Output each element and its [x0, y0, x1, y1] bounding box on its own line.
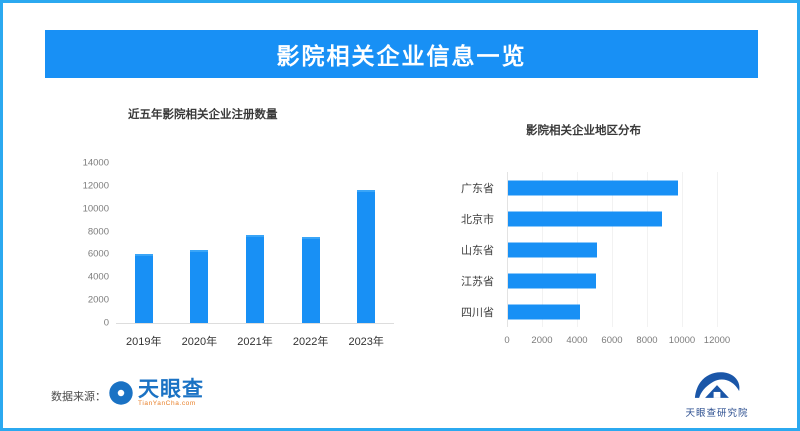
region-distribution-bar-chart: 广东省北京市山东省江苏省四川省 020004000600080001000012… [443, 168, 763, 353]
x-tick-label: 2019年 [126, 333, 161, 349]
bar [135, 254, 153, 323]
y-tick-label: 12000 [83, 180, 109, 191]
x-tick-label: 6000 [601, 335, 622, 346]
hbar-row: 四川省 [507, 296, 717, 327]
header-banner: 影院相关企业信息一览 [45, 30, 758, 78]
brand-name: 天眼查 [138, 379, 204, 400]
hbar-row: 北京市 [507, 203, 717, 234]
category-label: 山东省 [461, 242, 494, 258]
bar [508, 304, 580, 319]
institute-arch-icon [691, 369, 743, 403]
y-gridline: 8000 [116, 232, 394, 233]
left-chart-title: 近五年影院相关企业注册数量 [128, 106, 278, 122]
page-title: 影院相关企业信息一览 [277, 37, 527, 71]
bar [508, 242, 597, 257]
institute-name: 天眼查研究院 [675, 405, 759, 419]
brand-domain: TianYanCha.com [138, 401, 204, 408]
x-tick-label: 2023年 [348, 333, 383, 349]
bar [508, 273, 596, 288]
bar [246, 235, 264, 323]
registrations-bar-chart: 02000400060008000100001200014000 2019年20… [58, 153, 403, 348]
x-tick-label: 2022年 [293, 333, 328, 349]
bar [357, 190, 375, 323]
bar [302, 237, 320, 323]
hbar-row: 江苏省 [507, 265, 717, 296]
category-label: 北京市 [461, 211, 494, 227]
institute-logo: 天眼查研究院 [675, 369, 759, 419]
category-label: 江苏省 [461, 273, 494, 289]
tianyancha-logo: 天眼查 TianYanCha.com [108, 379, 204, 408]
right-chart-title: 影院相关企业地区分布 [526, 122, 641, 138]
category-label: 广东省 [461, 180, 494, 196]
y-gridline: 10000 [116, 209, 394, 210]
bar [190, 250, 208, 323]
y-tick-label: 2000 [88, 295, 109, 306]
right-plot-area: 广东省北京市山东省江苏省四川省 020004000600080001000012… [507, 172, 717, 327]
hbar-row: 山东省 [507, 234, 717, 265]
y-tick-label: 10000 [83, 203, 109, 214]
y-gridline: 0 [116, 323, 394, 324]
y-gridline: 14000 [116, 163, 394, 164]
x-tick-label: 8000 [636, 335, 657, 346]
bar [508, 211, 662, 226]
x-tick-label: 2000 [531, 335, 552, 346]
y-tick-label: 6000 [88, 249, 109, 260]
x-tick-label: 4000 [566, 335, 587, 346]
hbar-row: 广东省 [507, 172, 717, 203]
y-tick-label: 4000 [88, 272, 109, 283]
x-tick-label: 10000 [669, 335, 695, 346]
x-gridline [717, 172, 718, 327]
x-tick-label: 2021年 [237, 333, 272, 349]
infographic-page: 影院相关企业信息一览 近五年影院相关企业注册数量 020004000600080… [0, 0, 800, 431]
x-tick-label: 12000 [704, 335, 730, 346]
y-tick-label: 8000 [88, 226, 109, 237]
data-source-label: 数据来源： [51, 388, 106, 404]
y-tick-label: 0 [104, 318, 109, 329]
y-gridline: 12000 [116, 186, 394, 187]
y-tick-label: 14000 [83, 158, 109, 169]
x-tick-label: 2020年 [182, 333, 217, 349]
bar [508, 180, 678, 195]
x-tick-label: 0 [504, 335, 509, 346]
category-label: 四川省 [461, 304, 494, 320]
left-plot-area: 02000400060008000100001200014000 2019年20… [116, 164, 394, 324]
tianyancha-wordmark: 天眼查 TianYanCha.com [138, 379, 204, 408]
tianyancha-eye-icon [108, 380, 134, 406]
